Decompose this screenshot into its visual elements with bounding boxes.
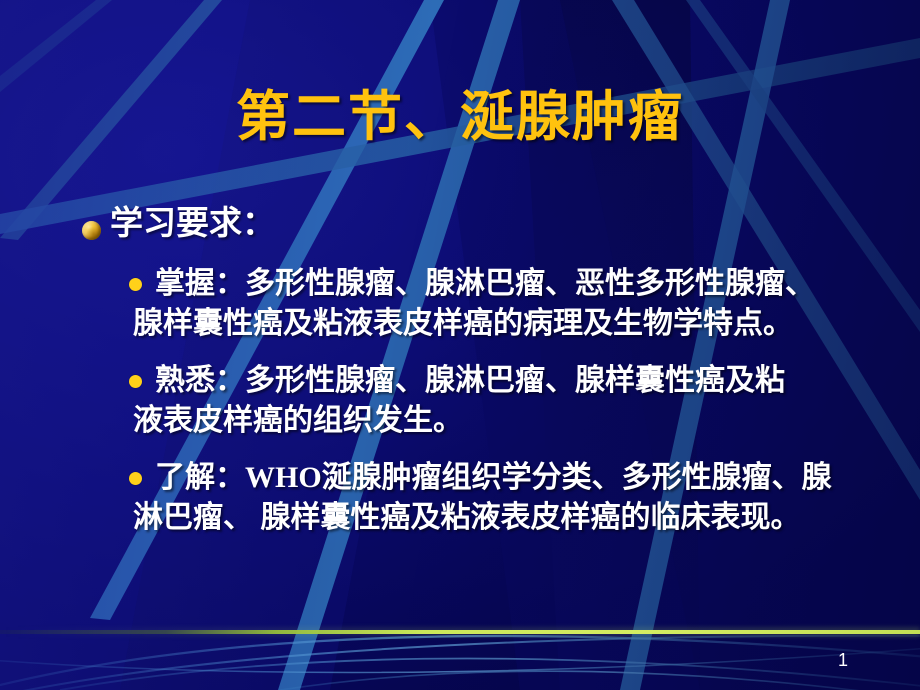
list-item-line: 淋巴瘤、 腺样囊性癌及粘液表皮样癌的临床表现。 xyxy=(133,498,885,538)
yellow-dot-bullet-icon xyxy=(129,375,142,388)
page-number: 1 xyxy=(828,650,858,671)
list-item-line: 腺样囊性癌及粘液表皮样癌的病理及生物学特点。 xyxy=(133,304,885,344)
yellow-dot-bullet-icon xyxy=(129,472,142,485)
list-item: 了解：WHO涎腺肿瘤组织学分类、多形性腺瘤、腺 淋巴瘤、 腺样囊性癌及粘液表皮样… xyxy=(0,458,920,537)
list-item-line: 熟悉：多形性腺瘤、腺淋巴瘤、腺样囊性癌及粘 xyxy=(155,361,885,401)
list-item: 掌握：多形性腺瘤、腺淋巴瘤、恶性多形性腺瘤、 腺样囊性癌及粘液表皮样癌的病理及生… xyxy=(0,264,920,343)
body-heading: 学习要求： xyxy=(0,204,920,246)
gold-sphere-bullet-icon xyxy=(82,221,101,240)
accent-line xyxy=(0,630,920,634)
yellow-dot-bullet-icon xyxy=(129,278,142,291)
list-item: 熟悉：多形性腺瘤、腺淋巴瘤、腺样囊性癌及粘 液表皮样癌的组织发生。 xyxy=(0,361,920,440)
list-item-text: 掌握：多形性腺瘤、腺淋巴瘤、恶性多形性腺瘤、 腺样囊性癌及粘液表皮样癌的病理及生… xyxy=(155,264,885,343)
list-item-line: 掌握：多形性腺瘤、腺淋巴瘤、恶性多形性腺瘤、 xyxy=(155,264,885,304)
body-heading-label: 学习要求： xyxy=(110,206,275,242)
list-item-line: 液表皮样癌的组织发生。 xyxy=(133,401,885,441)
list-item-text: 了解：WHO涎腺肿瘤组织学分类、多形性腺瘤、腺 淋巴瘤、 腺样囊性癌及粘液表皮样… xyxy=(155,458,885,537)
presentation-slide: 第二节、涎腺肿瘤 学习要求： 掌握：多形性腺瘤、腺淋巴瘤、恶性多形性腺瘤、 腺样… xyxy=(0,0,920,690)
list-item-line: 了解：WHO涎腺肿瘤组织学分类、多形性腺瘤、腺 xyxy=(155,458,885,498)
list-item-text: 熟悉：多形性腺瘤、腺淋巴瘤、腺样囊性癌及粘 液表皮样癌的组织发生。 xyxy=(155,361,885,440)
slide-title: 第二节、涎腺肿瘤 xyxy=(0,86,920,148)
slide-body: 学习要求： 掌握：多形性腺瘤、腺淋巴瘤、恶性多形性腺瘤、 腺样囊性癌及粘液表皮样… xyxy=(0,204,920,538)
